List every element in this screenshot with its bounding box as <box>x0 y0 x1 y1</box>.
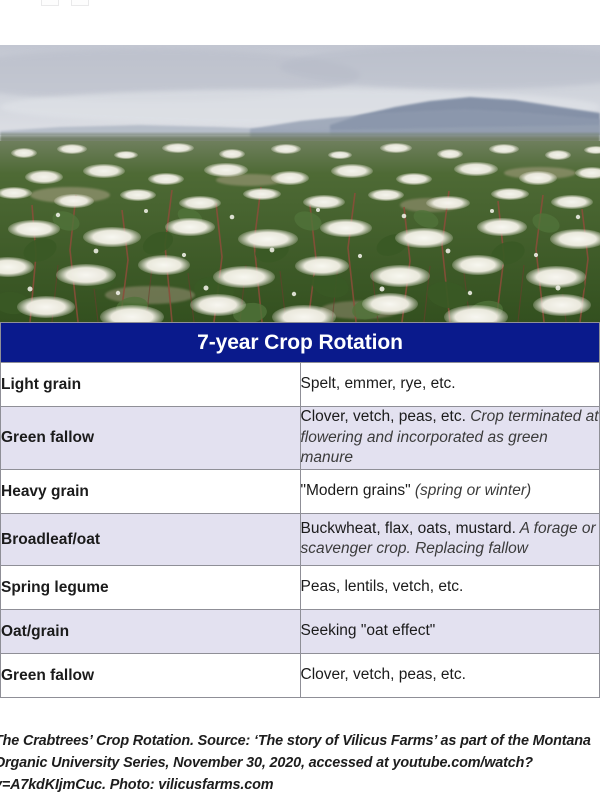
row-label: Light grain <box>1 363 301 407</box>
row-value-main: "Modern grains" <box>301 482 411 499</box>
row-value-main: Peas, lentils, vetch, etc. <box>301 578 464 595</box>
row-label: Spring legume <box>1 565 301 609</box>
row-value: Seeking "oat effect" <box>300 609 600 653</box>
chrome-chip-left <box>41 0 59 6</box>
row-value-main: Spelt, emmer, rye, etc. <box>301 375 456 392</box>
row-value: Clover, vetch, peas, etc. <box>300 653 600 697</box>
page-chrome-fragment <box>0 0 600 45</box>
row-value-main: Buckwheat, flax, oats, mustard. <box>301 520 516 537</box>
chrome-chip-right <box>71 0 89 6</box>
row-value: Buckwheat, flax, oats, mustard. A forage… <box>300 513 600 565</box>
figure-caption: The Crabtrees’ Crop Rotation. Source: ‘T… <box>0 731 594 797</box>
row-value-main: Clover, vetch, peas, etc. <box>301 666 466 683</box>
table-row: Oat/grain Seeking "oat effect" <box>1 609 600 653</box>
buckwheat-field-photo <box>0 45 600 322</box>
row-label: Broadleaf/oat <box>1 513 301 565</box>
row-value: Spelt, emmer, rye, etc. <box>300 363 600 407</box>
table-header-row: 7-year Crop Rotation <box>1 323 600 363</box>
row-value-main: Seeking "oat effect" <box>301 622 436 639</box>
table-row: Green fallow Clover, vetch, peas, etc. C… <box>1 407 600 470</box>
row-value: "Modern grains" (spring or winter) <box>300 469 600 513</box>
table-row: Spring legume Peas, lentils, vetch, etc. <box>1 565 600 609</box>
row-value: Clover, vetch, peas, etc. Crop terminate… <box>300 407 600 470</box>
table-row: Heavy grain "Modern grains" (spring or w… <box>1 469 600 513</box>
crop-rotation-table: 7-year Crop Rotation Light grain Spelt, … <box>0 322 600 698</box>
row-value-note: (spring or winter) <box>411 482 532 499</box>
table-title: 7-year Crop Rotation <box>1 323 600 363</box>
row-label: Heavy grain <box>1 469 301 513</box>
row-value: Peas, lentils, vetch, etc. <box>300 565 600 609</box>
row-value-main: Clover, vetch, peas, etc. <box>301 408 466 425</box>
table-body: Light grain Spelt, emmer, rye, etc. Gree… <box>1 363 600 698</box>
table-row: Light grain Spelt, emmer, rye, etc. <box>1 363 600 407</box>
row-label: Green fallow <box>1 653 301 697</box>
table-row: Broadleaf/oat Buckwheat, flax, oats, mus… <box>1 513 600 565</box>
row-label: Oat/grain <box>1 609 301 653</box>
row-label: Green fallow <box>1 407 301 470</box>
table-row: Green fallow Clover, vetch, peas, etc. <box>1 653 600 697</box>
